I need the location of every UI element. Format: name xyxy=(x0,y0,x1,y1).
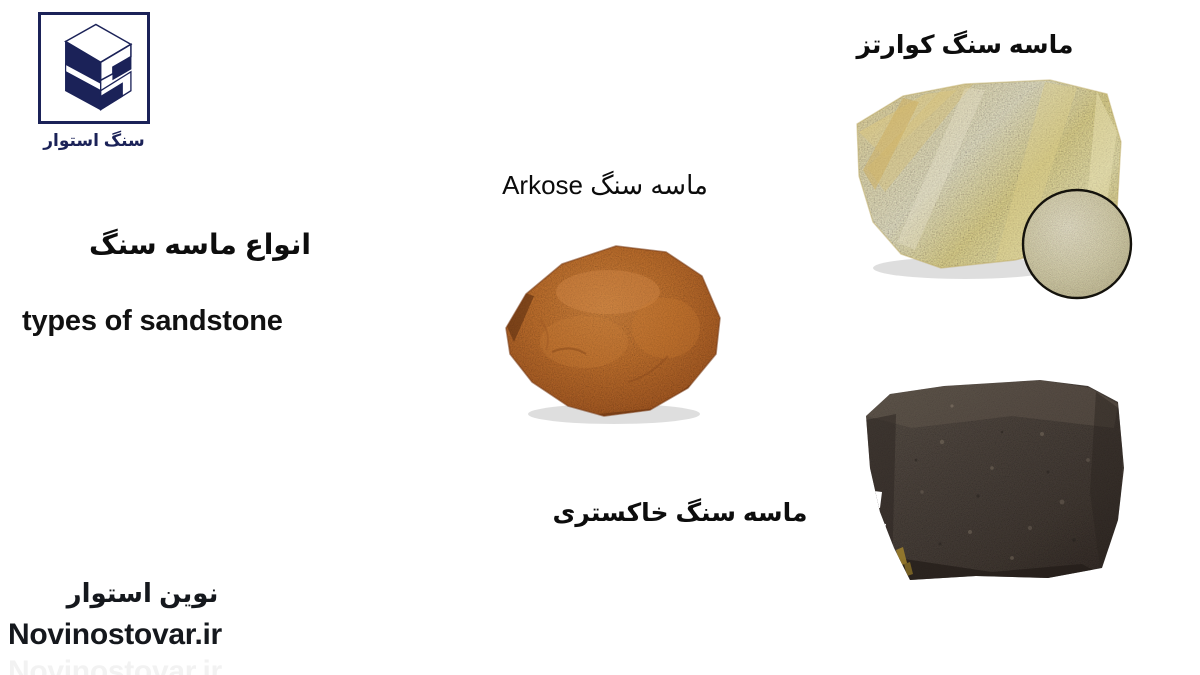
page-title-en: types of sandstone xyxy=(22,305,283,338)
gray-sandstone-photo xyxy=(852,372,1142,592)
website-url-ghost: Novinostovar.ir xyxy=(8,655,222,675)
quartz-sandstone-photo xyxy=(845,72,1145,312)
poster-canvas: سنگ استوار انواع ماسه سنگ types of sands… xyxy=(0,0,1200,675)
specimen-label-quartz: ماسه سنگ کوارتز xyxy=(820,30,1110,60)
specimen-label-arkose: ماسه سنگ Arkose xyxy=(460,170,750,201)
company-name-fa: نوین استوار xyxy=(0,578,285,609)
company-logo xyxy=(38,12,150,124)
page-title-fa: انواع ماسه سنگ xyxy=(0,228,400,261)
brand-block: سنگ استوار xyxy=(14,12,174,151)
grain-magnifier-inset xyxy=(1023,190,1131,298)
specimen-label-gray: ماسه سنگ خاکستری xyxy=(510,498,850,528)
website-url[interactable]: Novinostovar.ir xyxy=(8,618,222,652)
brand-name-fa: سنگ استوار xyxy=(14,131,174,151)
isometric-stone-block-logo-icon xyxy=(41,15,147,121)
arkose-sandstone-photo xyxy=(488,232,748,432)
